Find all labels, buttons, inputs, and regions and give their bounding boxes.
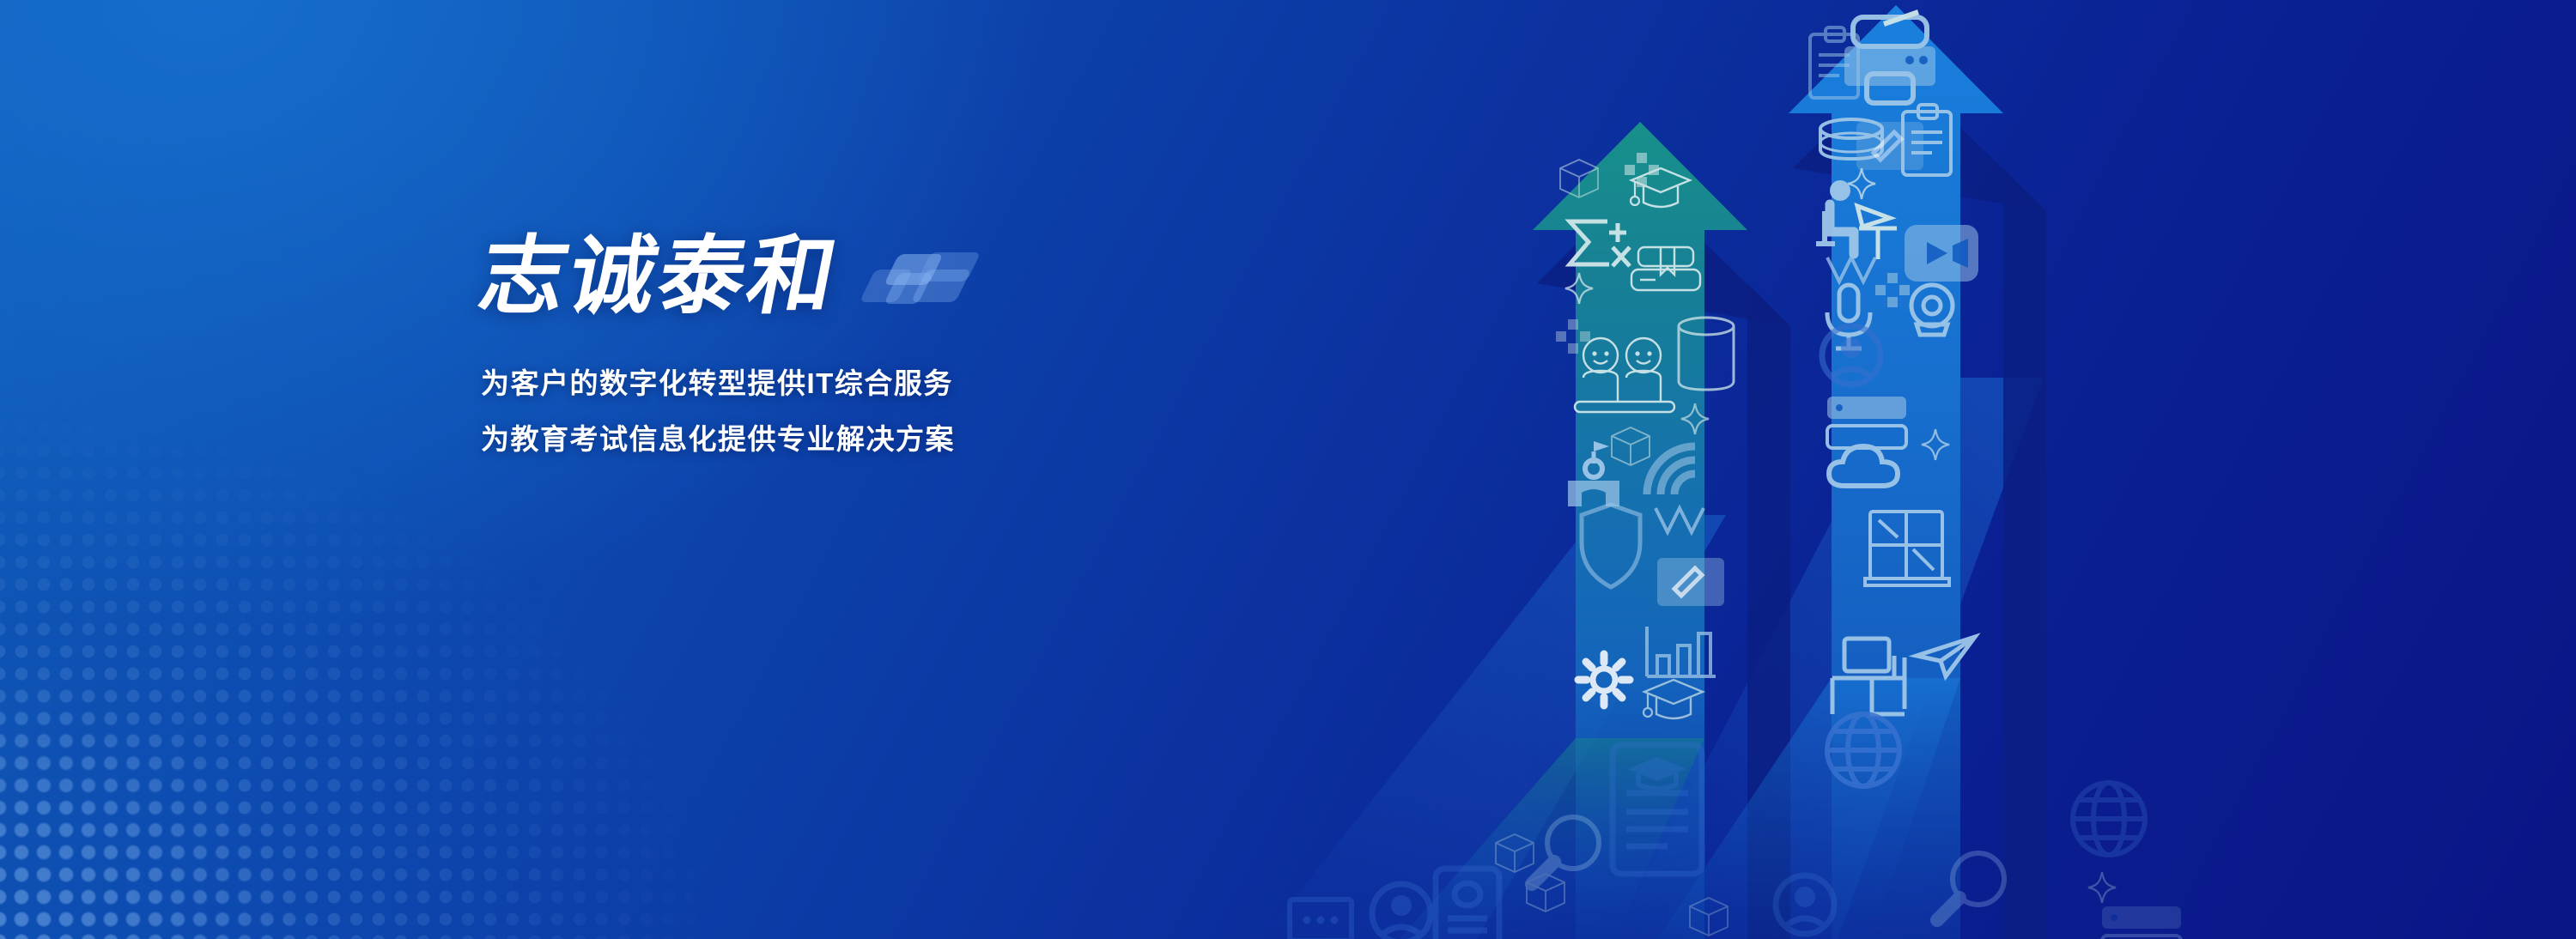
arrows-illustration [0,0,2576,939]
brand-wordmark: 志诚泰和 [472,233,846,319]
hero-banner: 志诚泰和 为客户的数字化转型提供IT综合服务 为教育考试信息化提供专业解决方案 [0,0,2576,939]
brand-lockup: 志诚泰和 [481,199,970,319]
hero-copy: 志诚泰和 为客户的数字化转型提供IT综合服务 为教育考试信息化提供专业解决方案 [481,199,970,453]
tagline-block: 为客户的数字化转型提供IT综合服务 为教育考试信息化提供专业解决方案 [481,369,970,453]
tagline-line-2: 为教育考试信息化提供专业解决方案 [481,425,970,453]
tagline-line-1: 为客户的数字化转型提供IT综合服务 [481,369,970,397]
parallelogram-blocks-logo [867,251,970,304]
